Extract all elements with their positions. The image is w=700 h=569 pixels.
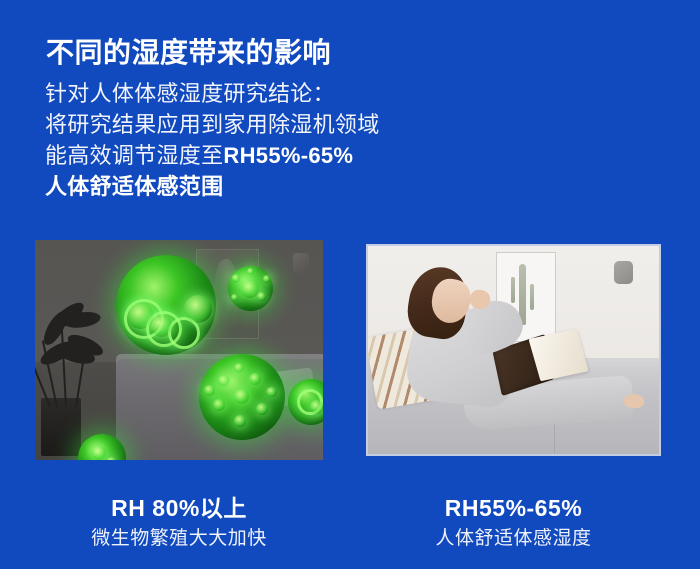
woman-foot [624, 394, 644, 409]
intro-paragraph: 针对人体体感湿度研究结论： 将研究结果应用到家用除湿机领域 能高效调节湿度至RH… [45, 78, 465, 202]
intro-line-3-prefix: 能高效调节湿度至 [45, 143, 223, 168]
caption-subtitle: 人体舒适体感湿度 [366, 526, 661, 552]
humidity-infographic-poster: 不同的湿度带来的影响 针对人体体感湿度研究结论： 将研究结果应用到家用除湿机领域… [0, 0, 700, 569]
intro-line-3: 能高效调节湿度至RH55%-65% [45, 140, 465, 171]
intro-line-2: 将研究结果应用到家用除湿机领域 [45, 109, 465, 140]
caption-high-humidity: RH 80%以上 微生物繁殖大大加快 [35, 494, 323, 552]
bright-room-scene [368, 246, 659, 454]
microbe-sphere [199, 354, 285, 440]
caption-title: RH55%-65% [366, 494, 661, 522]
microbe-sphere [116, 255, 216, 355]
page-title: 不同的湿度带来的影响 [46, 36, 331, 70]
photo-high-humidity [35, 240, 323, 460]
wall-speaker-dark [293, 253, 309, 273]
microbe-sphere [228, 266, 273, 311]
caption-title: RH 80%以上 [35, 494, 323, 522]
humidity-range-highlight: RH55%-65% [223, 143, 353, 168]
wall-speaker-light [614, 261, 633, 284]
caption-subtitle: 微生物繁殖大大加快 [35, 526, 323, 552]
caption-comfort-humidity: RH55%-65% 人体舒适体感湿度 [366, 494, 661, 552]
microbe-sphere [288, 379, 323, 425]
dark-room-scene [35, 240, 323, 460]
intro-line-4: 人体舒适体感范围 [45, 171, 465, 202]
photo-comfort-humidity [366, 244, 661, 456]
house-plant-dark [35, 315, 104, 407]
intro-line-1: 针对人体体感湿度研究结论： [45, 78, 465, 109]
